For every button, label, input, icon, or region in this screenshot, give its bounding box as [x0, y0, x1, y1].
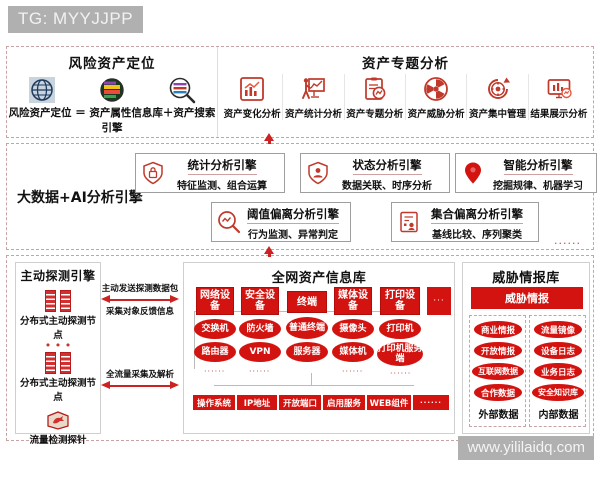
asset-category-extra[interactable]: ··· [427, 287, 451, 315]
threat-internal-column: 流量镜像 设备日志 业务日志 安全知识库 内部数据 [529, 315, 586, 427]
analysis-item-label: 资产变化分析 [224, 106, 281, 120]
analysis-item-label: 资产集中管理 [469, 106, 526, 120]
engine-box-collection-deviation[interactable]: 集合偏离分析引擎 基线比较、序列聚类 [391, 202, 539, 242]
monitor-chart-icon [544, 74, 574, 104]
asset-child-router[interactable]: 路由器 [194, 342, 236, 362]
server-rack-icon [45, 290, 71, 312]
risk-section-caption: 风险资产定位 ＝ 资产属性信息库＋资产搜索引擎 [7, 105, 217, 135]
asset-attribute-enabled-service[interactable]: 启用服务 [322, 394, 366, 411]
threat-external-column: 商业情报 开放情报 互联网数据 合作数据 外部数据 [469, 315, 526, 427]
asset-category-media[interactable]: 媒体设备 [334, 287, 372, 315]
asset-attribute-ip[interactable]: IP地址 [236, 394, 278, 411]
engine-subtitle: 基线比较、序列聚类 [421, 226, 533, 241]
asset-attribute-open-port[interactable]: 开放端口 [278, 394, 322, 411]
threat-intel-library-panel: 威胁情报库 威胁情报 商业情报 开放情报 互联网数据 合作数据 外部数据 流量镜… [462, 262, 590, 434]
asset-attribute-web-component[interactable]: WEB组件 [366, 394, 412, 411]
search-magnifier-icon [167, 75, 197, 105]
analysis-item-label: 资产威胁分析 [408, 106, 465, 120]
asset-category-security[interactable]: 安全设备 [241, 287, 279, 315]
ai-engine-label: 大数据+AI分析引擎 [17, 187, 143, 207]
asset-child-media-machine[interactable]: 媒体机 [332, 342, 374, 362]
bidirectional-arrow-icon [101, 295, 179, 304]
threat-item-open[interactable]: 开放情报 [474, 342, 522, 359]
attribute-bracket-line [214, 385, 414, 387]
asset-child-print-server[interactable]: 打印机服务端 [377, 342, 423, 366]
tag-watermark: TG: MYYJJPP [8, 6, 143, 33]
arrow-group-probe-packets: 主动发送探测数据包 采集对象反馈信息 [101, 282, 179, 317]
asset-column-dots: ······ [342, 367, 363, 376]
asset-attribute-extra[interactable]: ······ [412, 394, 450, 411]
asset-child-common-terminal[interactable]: 普通终端 [286, 317, 328, 339]
analysis-item-statistics[interactable]: 资产统计分析 [283, 74, 344, 120]
analysis-item-threat[interactable]: 资产威胁分析 [406, 74, 467, 120]
asset-child-printer[interactable]: 打印机 [379, 319, 421, 339]
attribute-bracket-stem [311, 373, 313, 385]
engine-subtitle: 挖掘规律、机器学习 [485, 177, 591, 192]
radiation-hazard-icon [421, 74, 451, 104]
probe-node-2[interactable]: 分布式主动探测节点 [16, 352, 100, 403]
mid-band-ellipsis: ...... [554, 234, 581, 247]
shield-lock-icon [141, 160, 165, 186]
threat-internal-label: 内部数据 [530, 406, 587, 421]
analysis-item-change[interactable]: 资产变化分析 [222, 74, 283, 120]
engine-box-intelligent[interactable]: 智能分析引擎 挖掘规律、机器学习 [455, 153, 597, 193]
asset-child-switch[interactable]: 交换机 [194, 319, 236, 339]
asset-category-network[interactable]: 网络设备 [196, 287, 234, 315]
engine-title: 阈值偏离分析引擎 [247, 206, 339, 224]
location-pin-icon [461, 160, 485, 186]
probe-node-label: 分布式主动探测节点 [16, 313, 100, 341]
shield-person-icon [306, 160, 330, 186]
probe-engine-panel: 主动探测引擎 分布式主动探测节点 • • • 分布式主动探测节点 流量检测探针 [15, 262, 101, 434]
engine-subtitle: 数据关联、时序分析 [330, 177, 444, 192]
arrow-label-above: 主动发送探测数据包 [101, 282, 179, 294]
analysis-section-title: 资产专题分析 [218, 52, 593, 72]
asset-child-firewall[interactable]: 防火墙 [239, 319, 281, 339]
clipboard-chart-icon [360, 74, 390, 104]
engine-title: 统计分析引擎 [188, 157, 257, 175]
engine-title: 状态分析引擎 [353, 157, 422, 175]
probe-node-separator: • • • [16, 343, 100, 349]
analysis-item-label: 资产统计分析 [285, 106, 342, 120]
magnifier-wave-icon [217, 209, 241, 235]
threat-item-internet[interactable]: 互联网数据 [472, 363, 524, 380]
engine-subtitle: 行为监测、异常判定 [241, 226, 345, 241]
probe-node-3[interactable]: 流量检测探针 [16, 410, 100, 446]
analysis-item-result-display[interactable]: 结果展示分析 [529, 74, 589, 120]
asset-sphere-icon [97, 75, 127, 105]
analysis-item-label: 结果展示分析 [530, 106, 587, 120]
engine-subtitle: 特征监测、组合运算 [165, 177, 279, 192]
risk-section-title: 风险资产定位 [7, 52, 217, 72]
probe-node-1[interactable]: 分布式主动探测节点 [16, 290, 100, 341]
asset-column-dots: ······ [249, 367, 270, 376]
bar-chart-trend-icon [237, 74, 267, 104]
analysis-item-label: 资产专题分析 [346, 106, 403, 120]
engine-box-statistics[interactable]: 统计分析引擎 特征监测、组合运算 [135, 153, 285, 193]
analysis-item-topic[interactable]: 资产专题分析 [345, 74, 406, 120]
flow-arrow-up-upper-icon [264, 133, 274, 141]
arrow-group-full-traffic: 全流量采集及解析 [101, 368, 179, 391]
probe-node-label: 流量检测探针 [16, 432, 100, 446]
engine-box-state[interactable]: 状态分析引擎 数据关联、时序分析 [300, 153, 450, 193]
asset-info-library-panel: 全网资产信息库 网络设备 交换机 路由器 ······ 安全设备 防火墙 VPN… [183, 262, 455, 434]
engine-title: 集合偏离分析引擎 [431, 206, 523, 224]
top-band: 风险资产定位 风险资产定位 ＝ 资产属性信息库＋资产搜索引擎 资产专题分析 [6, 46, 594, 138]
risk-asset-section: 风险资产定位 风险资产定位 ＝ 资产属性信息库＋资产搜索引擎 [7, 47, 218, 137]
flow-arrow-up-lower-icon [264, 246, 274, 254]
connector-line-vertical [194, 311, 196, 369]
threat-item-partner[interactable]: 合作数据 [474, 384, 522, 401]
probe-panel-title: 主动探测引擎 [16, 263, 100, 284]
asset-child-server[interactable]: 服务器 [286, 342, 328, 362]
presenter-board-icon [298, 74, 328, 104]
gear-refresh-icon [483, 74, 513, 104]
globe-icon [27, 75, 57, 105]
arrow-label-below: 采集对象反馈信息 [101, 305, 179, 317]
asset-category-print[interactable]: 打印设备 [380, 287, 420, 315]
threat-item-traffic-mirror[interactable]: 流量镜像 [534, 321, 582, 338]
asset-column-dots: ······ [204, 367, 225, 376]
id-card-icon [397, 209, 421, 235]
asset-child-camera[interactable]: 摄像头 [332, 319, 374, 339]
threat-external-label: 外部数据 [470, 406, 527, 421]
asset-panel-title: 全网资产信息库 [184, 263, 454, 286]
arrow-label-above: 全流量采集及解析 [101, 368, 179, 380]
bottom-band: 主动探测引擎 分布式主动探测节点 • • • 分布式主动探测节点 流量检测探针 … [6, 255, 594, 441]
engine-box-threshold-deviation[interactable]: 阈值偏离分析引擎 行为监测、异常判定 [211, 202, 351, 242]
threat-panel-title: 威胁情报库 [463, 263, 589, 286]
mid-band: 大数据+AI分析引擎 统计分析引擎 特征监测、组合运算 状态分析引擎 数据关联、… [6, 143, 594, 250]
asset-attribute-os[interactable]: 操作系统 [192, 394, 236, 411]
threat-item-device-log[interactable]: 设备日志 [534, 342, 582, 359]
probe-node-label: 分布式主动探测节点 [16, 375, 100, 403]
traffic-probe-icon [45, 410, 71, 430]
threat-item-business-log[interactable]: 业务日志 [534, 363, 582, 380]
threat-item-commercial[interactable]: 商业情报 [474, 321, 522, 338]
threat-intel-header[interactable]: 威胁情报 [471, 287, 583, 309]
bidirectional-arrow-icon [101, 381, 179, 390]
url-watermark: www.yililaidq.com [458, 436, 594, 460]
server-rack-icon [45, 352, 71, 374]
asset-category-terminal[interactable]: 终端 [287, 291, 327, 313]
analysis-item-central-mgmt[interactable]: 资产集中管理 [467, 74, 528, 120]
asset-column-dots: ······ [390, 369, 411, 378]
asset-analysis-section: 资产专题分析 资产变化分析 资产统计分析 [218, 47, 593, 137]
asset-child-vpn[interactable]: VPN [239, 342, 281, 362]
engine-title: 智能分析引擎 [504, 157, 573, 175]
threat-item-security-kb[interactable]: 安全知识库 [532, 384, 584, 401]
